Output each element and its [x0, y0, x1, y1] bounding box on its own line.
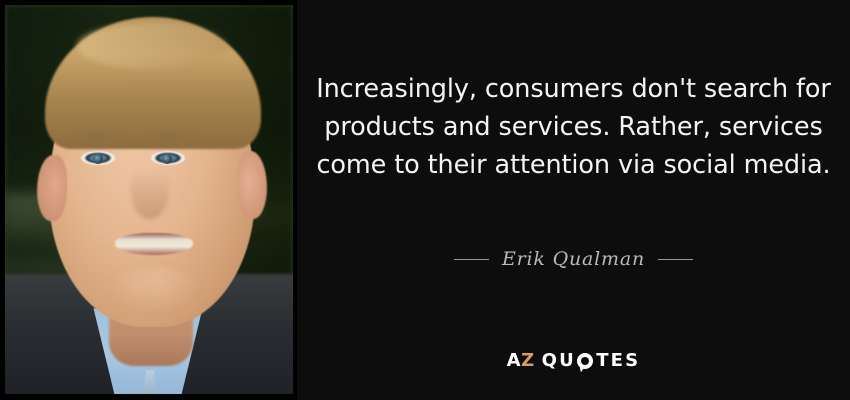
quote-author-name: Erik Qualman	[502, 248, 645, 270]
logo-quotes-suffix: TES	[596, 352, 640, 370]
photo-chin	[109, 267, 201, 313]
photo-pupil-left	[93, 154, 103, 164]
logo-letter-a: A	[507, 350, 521, 371]
logo-quotes-prefix: QU	[542, 352, 576, 370]
portrait-panel	[0, 0, 297, 400]
logo-quotes-wordmark: QU TES	[542, 352, 641, 370]
attribution-dash-left	[454, 259, 489, 260]
photo-nose	[131, 163, 169, 219]
azquotes-logo[interactable]: AZ QU TES	[297, 352, 850, 370]
logo-letter-z: Z	[521, 350, 535, 371]
quote-attribution: Erik Qualman	[297, 248, 850, 270]
quote-card: Increasingly, consumers don't search for…	[0, 0, 850, 400]
portrait-photo	[5, 5, 293, 394]
photo-mouth	[115, 233, 193, 255]
photo-pupil-right	[162, 154, 172, 164]
logo-az-wordmark: AZ	[507, 352, 535, 370]
speech-bubble-icon	[577, 353, 593, 369]
quote-text: Increasingly, consumers don't search for…	[315, 70, 832, 184]
photo-eyebrow-right	[145, 131, 193, 140]
quote-content-area: Increasingly, consumers don't search for…	[297, 0, 850, 400]
photo-eyebrow-left	[73, 131, 121, 140]
photo-hair-highlight	[77, 23, 227, 69]
attribution-dash-right	[658, 259, 693, 260]
photo-ear-left	[37, 155, 67, 221]
